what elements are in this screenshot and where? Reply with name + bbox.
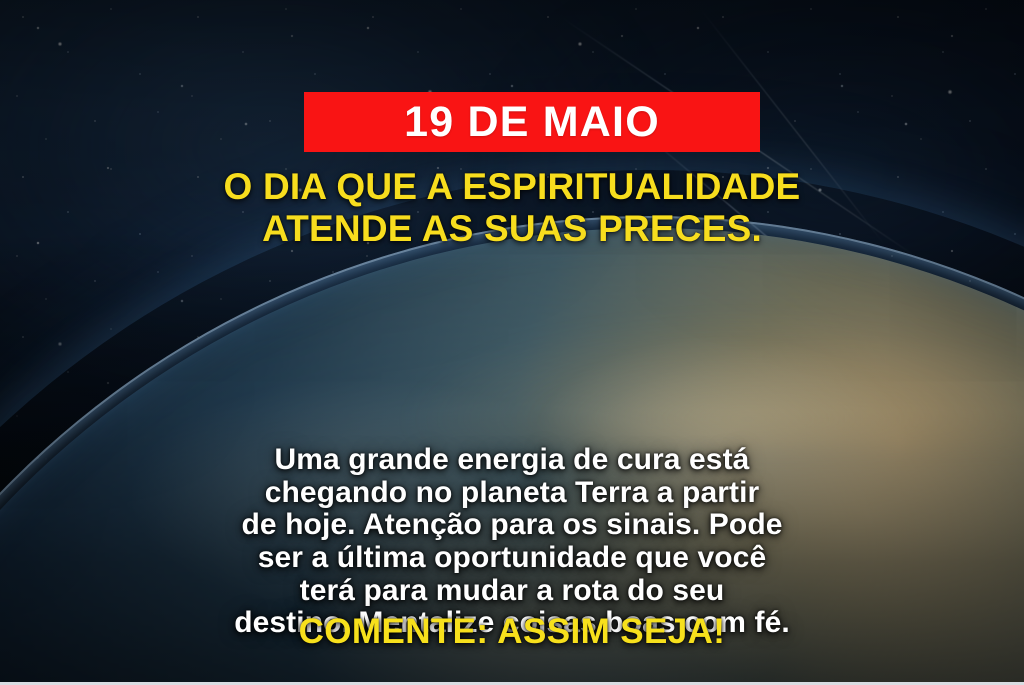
date-banner: 19 DE MAIO xyxy=(304,92,760,152)
body-copy-line-5: terá para mudar a rota do seu xyxy=(38,575,986,608)
body-copy-line-1: Uma grande energia de cura está xyxy=(38,444,986,477)
call-to-action: COMENTE: ASSIM SEJA! xyxy=(0,614,1024,649)
content-layer: 19 DE MAIO O DIA QUE A ESPIRITUALIDADE A… xyxy=(0,0,1024,685)
date-banner-label: 19 DE MAIO xyxy=(404,101,660,144)
body-copy-line-3: de hoje. Atenção para os sinais. Pode xyxy=(38,509,986,542)
poster-canvas: 19 DE MAIO O DIA QUE A ESPIRITUALIDADE A… xyxy=(0,0,1024,685)
headline-line-2: ATENDE AS SUAS PRECES. xyxy=(40,208,984,250)
body-copy-line-2: chegando no planeta Terra a partir xyxy=(38,477,986,510)
body-copy-line-4: ser a última oportunidade que você xyxy=(38,542,986,575)
body-copy: Uma grande energia de cura está chegando… xyxy=(0,444,1024,640)
headline: O DIA QUE A ESPIRITUALIDADE ATENDE AS SU… xyxy=(0,166,1024,250)
headline-line-1: O DIA QUE A ESPIRITUALIDADE xyxy=(40,166,984,208)
